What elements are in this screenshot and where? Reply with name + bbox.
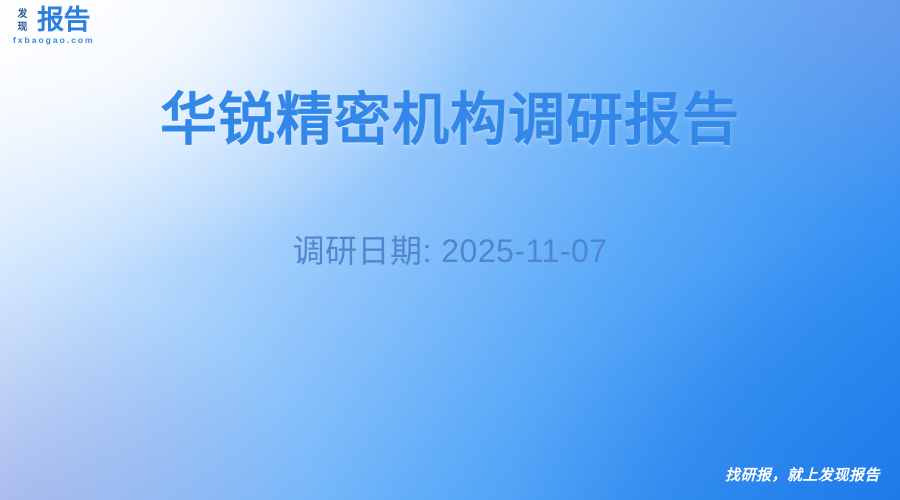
page-title: 华锐精密机构调研报告 (0, 84, 900, 156)
site-logo[interactable]: 发 现 报告 fxbaogao.com (8, 6, 188, 54)
logo-mark-char-bottom: 现 (18, 21, 28, 34)
footer-slogan: 找研报，就上发现报告 (725, 466, 880, 486)
survey-date-subtitle: 调研日期: 2025-11-07 (0, 228, 900, 274)
logo-mark-icon: 发 现 (12, 7, 33, 34)
logo-url: fxbaogao.com (8, 35, 188, 45)
logo-wordmark: 报告 (37, 6, 90, 34)
logo-mark-char-top: 发 (18, 8, 28, 21)
report-cover-page: 发 现 报告 fxbaogao.com 华锐精密机构调研报告 调研日期: 202… (0, 0, 900, 500)
logo-row: 发 现 报告 (8, 6, 188, 34)
title-block: 华锐精密机构调研报告 (0, 84, 900, 156)
